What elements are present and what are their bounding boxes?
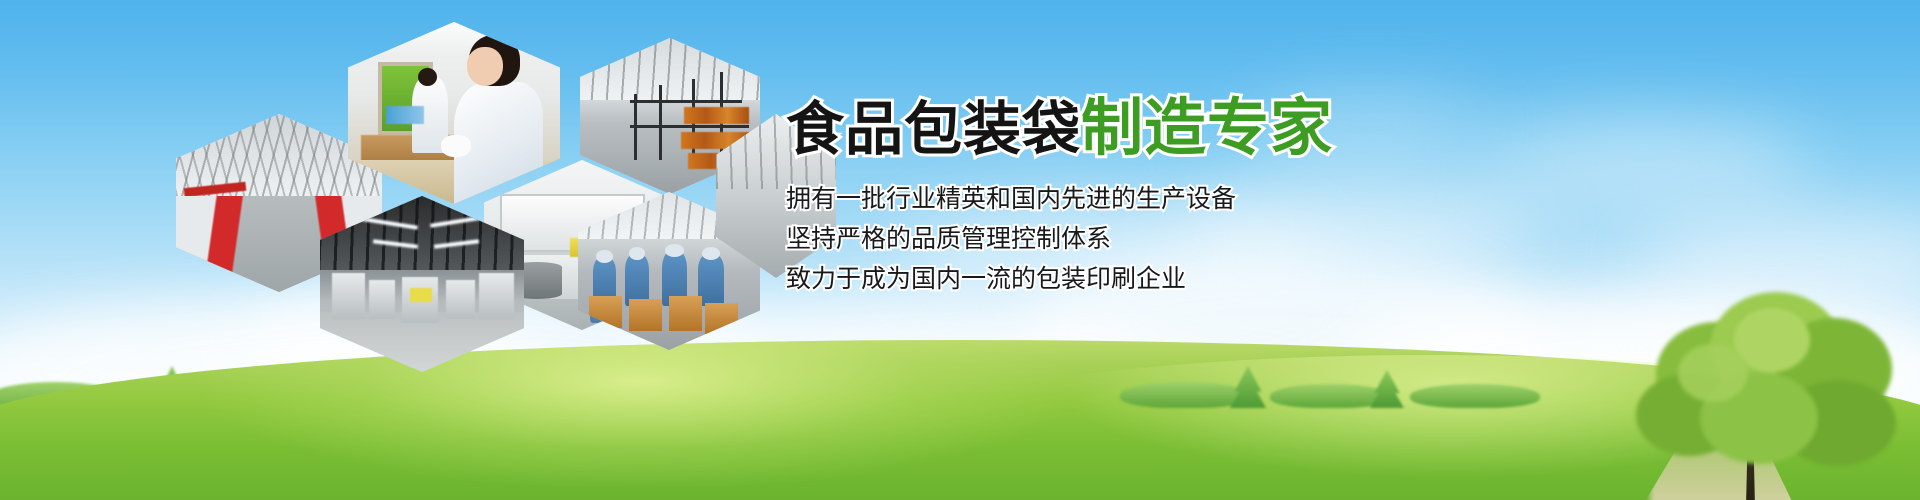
hero-banner: 食品包装袋制造专家 拥有一批行业精英和国内先进的生产设备 坚持严格的品质管理控制… [0, 0, 1920, 500]
banner-copy: 食品包装袋制造专家 拥有一批行业精英和国内先进的生产设备 坚持严格的品质管理控制… [786, 96, 1546, 292]
headline-part-green: 制造专家 [1081, 96, 1333, 161]
page-title: 食品包装袋制造专家 [786, 96, 1546, 161]
subline-item: 拥有一批行业精英和国内先进的生产设备 [786, 187, 1546, 212]
subline-item: 坚持严格的品质管理控制体系 [786, 227, 1546, 252]
subline-item: 致力于成为国内一流的包装印刷企业 [786, 267, 1546, 292]
subline-list: 拥有一批行业精英和国内先进的生产设备 坚持严格的品质管理控制体系 致力于成为国内… [786, 187, 1546, 292]
headline-part-dark: 食品包装袋 [786, 100, 1081, 161]
